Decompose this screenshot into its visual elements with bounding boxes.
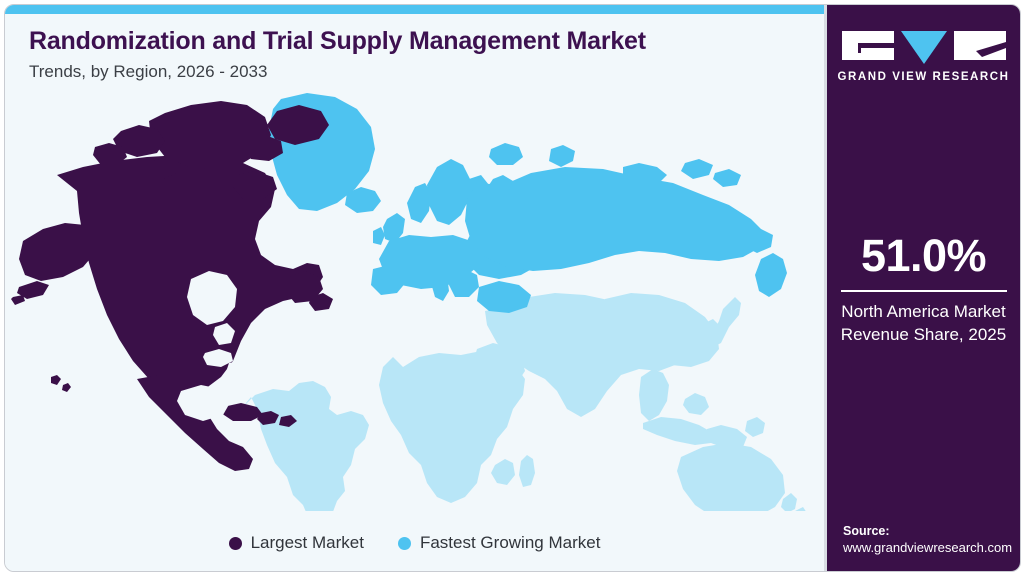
stat-divider [841,290,1007,292]
stat-block: 51.0% North America Market Revenue Share… [827,233,1020,347]
legend-item-fastest-growing-market[interactable]: Fastest Growing Market [398,533,600,553]
infographic-root: Randomization and Trial Supply Managemen… [0,0,1025,576]
page-title: Randomization and Trial Supply Managemen… [29,27,789,55]
legend-item-largest-market[interactable]: Largest Market [229,533,364,553]
stat-caption-line-2: Revenue Share, 2025 [837,324,1010,347]
logo-marks [842,31,1006,64]
legend-dot-icon [398,537,411,550]
gvr-logo-v-triangle-icon [901,31,947,64]
legend-item-label: Fastest Growing Market [420,533,600,553]
gvr-logo-g-block-icon [842,31,894,60]
brand-panel: GRAND VIEW RESEARCH 51.0% North America … [824,5,1020,571]
stat-caption-line-1: North America Market [837,301,1010,324]
map-legend: Largest Market Fastest Growing Market [5,533,824,553]
source-label: Source: [843,523,1012,539]
stat-value: 51.0% [837,233,1010,278]
legend-dot-icon [229,537,242,550]
legend-item-label: Largest Market [251,533,364,553]
source-block: Source: www.grandviewresearch.com [843,523,1012,557]
accent-bar [5,5,824,14]
world-map-svg [5,91,824,511]
infographic-card: Randomization and Trial Supply Managemen… [4,4,1021,572]
title-block: Randomization and Trial Supply Managemen… [29,27,789,82]
world-map [5,91,824,511]
brand-wordmark: GRAND VIEW RESEARCH [838,71,1010,83]
source-url[interactable]: www.grandviewresearch.com [843,539,1012,557]
map-panel: Randomization and Trial Supply Managemen… [5,5,824,571]
brand-logo[interactable]: GRAND VIEW RESEARCH [827,31,1020,83]
gvr-logo-r-block-icon [954,31,1006,60]
page-subtitle: Trends, by Region, 2026 - 2033 [29,62,789,82]
